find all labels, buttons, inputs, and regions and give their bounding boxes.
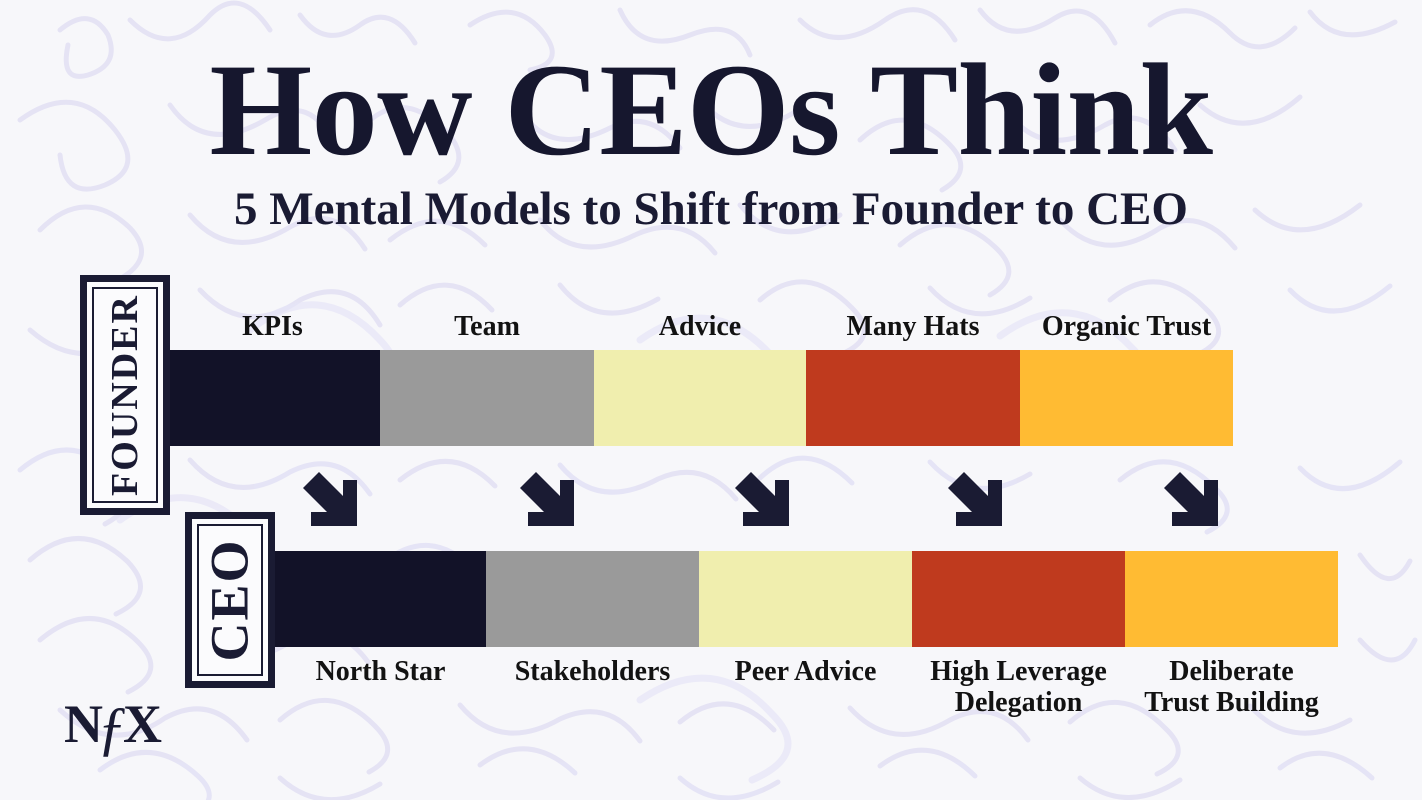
ceo-segment-label-stakeholders: Stakeholders (486, 656, 699, 687)
nfx-logo[interactable]: NƒX (64, 692, 161, 752)
founder-row-label-box: FOUNDER (80, 275, 170, 515)
page-title: How CEOs Think (0, 44, 1422, 176)
founder-segment-many-hats[interactable]: Many Hats (806, 350, 1020, 446)
founder-segment-organic-trust[interactable]: Organic Trust (1020, 350, 1233, 446)
title-block: How CEOs Think 5 Mental Models to Shift … (0, 44, 1422, 233)
founder-segment-label-advice: Advice (594, 311, 806, 342)
ceo-row-label-box: CEO (185, 512, 275, 688)
founder-segment-team[interactable]: Team (380, 350, 594, 446)
ceo-bar: North Star Stakeholders Peer Advice High… (275, 551, 1338, 647)
founder-segment-label-many-hats: Many Hats (806, 311, 1020, 342)
founder-segment-label-team: Team (380, 311, 594, 342)
page-subtitle: 5 Mental Models to Shift from Founder to… (0, 186, 1422, 233)
ceo-row-label: CEO (199, 538, 261, 661)
ceo-segment-north-star[interactable]: North Star (275, 551, 486, 647)
ceo-segment-stakeholders[interactable]: Stakeholders (486, 551, 699, 647)
arrow-advice-to-peer-advice (731, 468, 793, 530)
ceo-segment-label-high-leverage-delegation: High Leverage Delegation (912, 656, 1125, 719)
founder-segment-kpis[interactable]: KPIs (165, 350, 380, 446)
arrow-many-hats-to-high-leverage-delegation (944, 468, 1006, 530)
ceo-segment-deliberate-trust-building[interactable]: Deliberate Trust Building (1125, 551, 1338, 647)
logo-letter-x: X (123, 697, 161, 751)
ceo-segment-peer-advice[interactable]: Peer Advice (699, 551, 912, 647)
founder-segment-label-kpis: KPIs (165, 311, 380, 342)
logo-letter-f: ƒ (97, 698, 126, 758)
infographic-canvas: How CEOs Think 5 Mental Models to Shift … (0, 0, 1422, 800)
founder-segment-advice[interactable]: Advice (594, 350, 806, 446)
ceo-segment-label-peer-advice: Peer Advice (699, 656, 912, 687)
ceo-segment-label-deliberate-trust-building: Deliberate Trust Building (1125, 656, 1338, 719)
founder-segment-label-organic-trust: Organic Trust (1020, 311, 1233, 342)
founder-bar: KPIs Team Advice Many Hats Organic Trust (165, 350, 1233, 446)
ceo-segment-label-north-star: North Star (275, 656, 486, 687)
arrow-kpis-to-north-star (299, 468, 361, 530)
arrow-team-to-stakeholders (516, 468, 578, 530)
arrow-organic-trust-to-deliberate-trust-building (1160, 468, 1222, 530)
ceo-segment-high-leverage-delegation[interactable]: High Leverage Delegation (912, 551, 1125, 647)
founder-row-label: FOUNDER (103, 294, 147, 496)
